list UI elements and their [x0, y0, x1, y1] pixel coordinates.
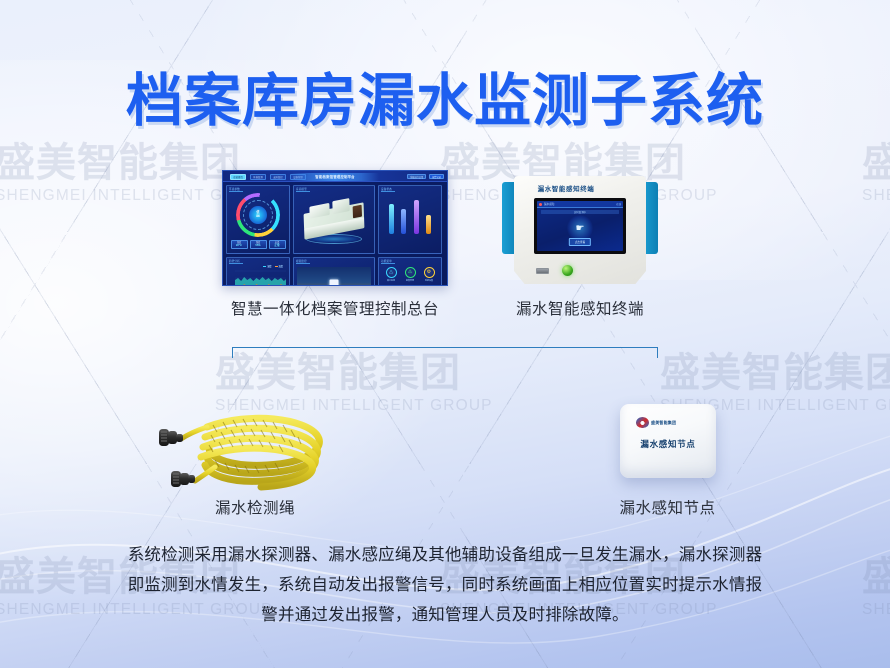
panel-title: 趋势分析: [229, 259, 240, 263]
panel-title: 设备状态: [381, 187, 392, 191]
function-label: 漏水监测: [387, 279, 395, 282]
panel-title: 环境参数: [229, 187, 240, 191]
device-status-bars: [382, 194, 438, 234]
watermark-cn: 盛美智能集团: [862, 142, 890, 184]
description-line: 即监测到水情发生，系统自动发出报警信号，同时系统画面上相应位置实时提示水情报: [95, 570, 795, 600]
speaker-icon: ◀: [405, 285, 416, 286]
function-label: 系统设置: [425, 279, 433, 282]
function-item-security[interactable]: ❖ 安全防护: [420, 285, 438, 286]
watermark-cn: 盛美智能集团: [215, 352, 493, 394]
environment-mini-buttons: 温度 22℃ 湿度 55% 水浸 正常: [230, 240, 286, 249]
terminal-screen[interactable]: 漏水感知 在线 实时监测中 ☛ 点击查看: [534, 198, 626, 254]
watermark: 盛美智能集团 SHENGMEI INTELLIGENT GROUP: [862, 556, 890, 621]
watermark-cn: 盛美智能集团: [660, 352, 890, 394]
description-line: 警并通过发出报警，通知管理人员及时排除故障。: [95, 600, 795, 630]
water-drop-icon: △: [386, 267, 397, 278]
shield-icon: ❖: [424, 285, 435, 286]
leak-detection-rope-image: [155, 405, 355, 495]
watermark: 盛美智能集团 SHENGMEI INTELLIGENT GROUP: [862, 142, 890, 207]
mini-button-humidity[interactable]: 湿度 55%: [250, 240, 267, 249]
description-paragraph: 系统检测采用漏水探测器、漏水感应绳及其他辅助设备组成一旦发生漏水，漏水探测器 即…: [95, 540, 795, 630]
mini-button-value: 55%: [255, 244, 260, 247]
watermark-en: SHENGMEI INTELLIGENT GROUP: [862, 184, 890, 207]
environment-gauge: 优 86: [236, 193, 280, 237]
rope-connector-upper: [159, 429, 183, 446]
function-label: 报警管理: [406, 279, 414, 282]
panel-device-status: 设备状态: [378, 185, 442, 254]
trend-chart: 湿度 温度 01: [230, 267, 286, 286]
dashboard-status-area: 系统运行正常 报警记录: [407, 174, 444, 179]
terminal-ui-status: 在线: [616, 202, 621, 206]
rope-coils: [201, 418, 319, 487]
legend-item-humidity: 湿度: [263, 264, 271, 268]
dashboard-topbar: 总览首页 环境监测 安防监控 设备管理 智能档案馆管理控制平台 系统运行正常 报…: [223, 171, 447, 182]
function-item-alarm[interactable]: ⚠ 报警管理: [401, 267, 419, 282]
panel-title: 库房模型: [296, 187, 307, 191]
panel-title: 功能菜单: [381, 259, 392, 263]
status-bar: [389, 204, 394, 234]
dashboard-header-title: 智能档案馆管理控制平台: [291, 173, 379, 181]
gauge-value: 86: [256, 215, 260, 219]
caption-terminal: 漏水智能感知终端: [490, 297, 670, 319]
rope-connector-lower: [171, 471, 195, 487]
caption-rope: 漏水检测绳: [155, 496, 355, 518]
alarm-icon: ⚠: [405, 267, 416, 278]
function-item-broadcast[interactable]: ◀ 广播提示: [401, 285, 419, 286]
function-item-humidity[interactable]: ☾ 温湿控制: [382, 285, 400, 286]
caption-console: 智慧一体化档案管理控制总台: [205, 297, 465, 319]
dashboard-screenshot: 总览首页 环境监测 安防监控 设备管理 智能档案馆管理控制平台 系统运行正常 报…: [222, 170, 448, 286]
terminal-ui-topbar: 漏水感知 在线: [537, 201, 623, 208]
panel-video: 视频监控: [293, 257, 375, 286]
dashboard-status-chip-1[interactable]: 报警记录: [429, 174, 444, 179]
status-bar: [401, 209, 406, 234]
dashboard-tab-2[interactable]: 安防监控: [270, 174, 286, 180]
section-divider-bracket: [232, 347, 658, 358]
room-3d-model[interactable]: [297, 192, 371, 250]
terminal-power-led[interactable]: [562, 265, 573, 276]
caption-node: 漏水感知节点: [600, 496, 735, 518]
dashboard-status-chip-0: 系统运行正常: [407, 174, 426, 179]
function-item-water-monitor[interactable]: △ 漏水监测: [382, 267, 400, 282]
node-brand-text: 盛美智能集团: [651, 420, 676, 426]
humidity-icon: ☾: [386, 285, 397, 286]
video-prev-arrow-icon[interactable]: [299, 285, 301, 286]
trend-legend: 湿度 温度: [263, 264, 283, 268]
terminal-ui-subtitle: 实时监测中: [541, 210, 619, 214]
node-box: 盛美智能集团 漏水感知节点: [620, 404, 716, 478]
page-title: 档案库房漏水监测子系统: [0, 55, 890, 137]
sensing-node-image: 盛美智能集团 漏水感知节点: [612, 398, 724, 490]
dashboard-tab-1[interactable]: 环境监测: [250, 174, 266, 180]
terminal-usb-port: [536, 268, 549, 274]
mini-button-value: 22℃: [236, 244, 242, 247]
terminal-screen-ui: 漏水感知 在线 实时监测中 ☛ 点击查看: [537, 201, 623, 251]
trend-area-svg: [235, 267, 286, 286]
terminal-ui-button[interactable]: 点击查看: [569, 238, 591, 246]
watermark-cn: 盛美智能集团: [862, 556, 890, 598]
panel-title: 视频监控: [296, 259, 307, 263]
gear-icon: ⚙: [424, 267, 435, 278]
video-next-arrow-icon[interactable]: [368, 285, 370, 286]
node-box-label: 漏水感知节点: [620, 438, 716, 450]
status-bar: [414, 200, 419, 234]
watermark-en: SHENGMEI INTELLIGENT GROUP: [862, 598, 890, 621]
legend-item-temp: 温度: [275, 264, 283, 268]
company-logo-icon: [636, 417, 649, 428]
function-icon-grid: △ 漏水监测 ⚠ 报警管理 ⚙ 系统设置 ☾ 温湿控制: [382, 267, 438, 286]
terminal-device-label: 漏水智能感知终端: [500, 183, 632, 193]
terminal-ui-title: 漏水感知: [544, 202, 554, 206]
gauge-core: 优 86: [249, 206, 267, 224]
node-brand-logo: 盛美智能集团: [636, 417, 676, 428]
mini-button-temp[interactable]: 温度 22℃: [231, 240, 248, 249]
panel-room-model: 库房模型: [293, 185, 375, 254]
video-marker-icon: [330, 279, 339, 286]
video-thumbnail[interactable]: [297, 267, 371, 286]
mini-button-value: 正常: [274, 244, 279, 247]
panel-environment: 环境参数 优 86 温度 22℃ 湿度 55%: [226, 185, 290, 254]
model-door-panel: [353, 205, 362, 219]
dashboard-body: 环境参数 优 86 温度 22℃ 湿度 55%: [223, 182, 447, 286]
poster-stage: 盛美智能集团 SHENGMEI INTELLIGENT GROUP 盛美智能集团…: [0, 0, 890, 668]
function-item-settings[interactable]: ⚙ 系统设置: [420, 267, 438, 282]
terminal-status-dot: [539, 203, 542, 206]
panel-trend: 趋势分析 湿度 温度: [226, 257, 290, 286]
panel-functions: 功能菜单 △ 漏水监测 ⚠ 报警管理 ⚙ 系统设置 ☾: [378, 257, 442, 286]
status-bar: [426, 215, 431, 234]
description-line: 系统检测采用漏水探测器、漏水感应绳及其他辅助设备组成一旦发生漏水，漏水探测器: [95, 540, 795, 570]
terminal-device-image: 漏水智能感知终端 漏水感知 在线 实时监测中 ☛ 点击查看: [500, 176, 660, 288]
dashboard-tab-0[interactable]: 总览首页: [230, 174, 246, 180]
mini-button-water[interactable]: 水浸 正常: [269, 240, 286, 249]
